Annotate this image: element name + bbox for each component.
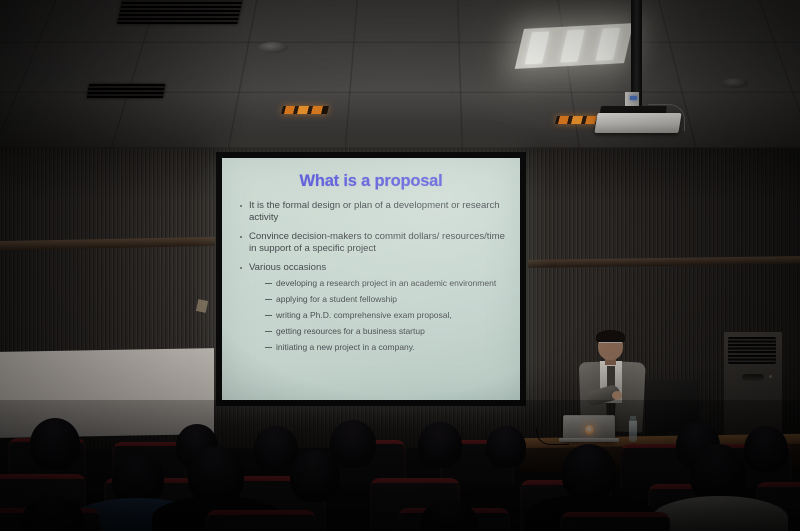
air-conditioner-control-panel (742, 374, 764, 381)
fluorescent-tube (560, 30, 585, 63)
slide-bullet-text: Convince decision-makers to commit dolla… (249, 231, 505, 254)
ceiling-shadow-left (0, 0, 250, 152)
projector-indicator-led (630, 96, 637, 100)
slide-sub-bullet: getting resources for a business startup (265, 326, 508, 337)
slide-bullet: Various occasions developing a research … (238, 262, 508, 353)
eyeglasses-icon (599, 342, 622, 348)
audience-area (0, 400, 800, 531)
slide-bullet-list: It is the formal design or plan of a dev… (232, 200, 510, 353)
air-conditioner-grille (728, 337, 776, 364)
slide-sub-bullet: developing a research project in an acad… (265, 278, 508, 289)
warm-lamp-fixture (281, 106, 329, 114)
slide-sub-bullet: initiating a new project in a company. (265, 342, 508, 353)
slide-sub-bullet: writing a Ph.D. comprehensive exam propo… (265, 310, 508, 321)
lecture-hall-photo: What is a proposal It is the formal desi… (0, 0, 800, 531)
slide-bullet: It is the formal design or plan of a dev… (238, 200, 508, 224)
smoke-detector-icon (258, 42, 288, 53)
slide-bullet: Convince decision-makers to commit dolla… (238, 231, 508, 255)
audience-shading (0, 400, 800, 531)
presentation-slide: What is a proposal It is the formal desi… (222, 158, 520, 400)
fluorescent-tube (525, 31, 550, 64)
presenter-hand (612, 391, 622, 400)
projector (594, 113, 681, 133)
air-conditioner-indicator (769, 375, 772, 378)
slide-sub-bullet-list: developing a research project in an acad… (249, 278, 508, 353)
slide-title: What is a proposal (232, 172, 510, 191)
slide-bullet-text: It is the formal design or plan of a dev… (249, 200, 500, 223)
slide-sub-bullet: applying for a student fellowship (265, 294, 508, 305)
slide-bullet-text: Various occasions (249, 262, 326, 273)
projection-screen: What is a proposal It is the formal desi… (222, 158, 520, 400)
